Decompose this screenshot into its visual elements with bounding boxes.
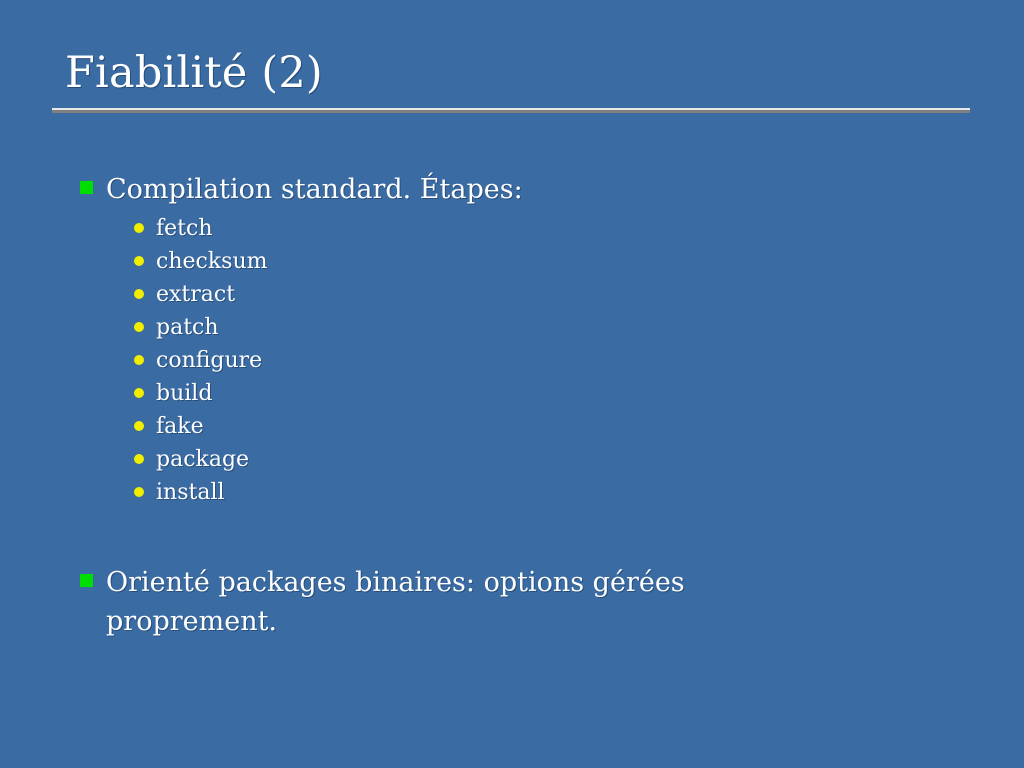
list-item-label: fake (156, 410, 980, 443)
round-bullet-icon (134, 322, 144, 332)
sub-bullet-list: fetch checksum extract patch configure (106, 212, 980, 509)
list-item-label: configure (156, 344, 980, 377)
bullet-block: Orienté packages binaires: options gérée… (80, 563, 980, 641)
list-item-label: patch (156, 311, 980, 344)
round-bullet-icon (134, 454, 144, 464)
slide: Fiabilité (2) Compilation standard. Étap… (0, 0, 1024, 768)
list-item: checksum (134, 245, 980, 278)
list-item-label: fetch (156, 212, 980, 245)
round-bullet-icon (134, 289, 144, 299)
page-title: Fiabilité (2) (52, 46, 972, 100)
bullet-text: Compilation standard. Étapes: (106, 170, 980, 209)
list-item: patch (134, 311, 980, 344)
list-item-label: package (156, 443, 980, 476)
list-item-label: build (156, 377, 980, 410)
round-bullet-icon (134, 223, 144, 233)
round-bullet-icon (134, 355, 144, 365)
list-item: fake (134, 410, 980, 443)
square-bullet-icon (80, 574, 93, 587)
list-item-label: extract (156, 278, 980, 311)
slide-content: Compilation standard. Étapes: fetch chec… (80, 170, 980, 641)
square-bullet-icon (80, 181, 93, 194)
list-item: configure (134, 344, 980, 377)
bullet-block: Compilation standard. Étapes: fetch chec… (80, 170, 980, 509)
list-item-label: install (156, 476, 980, 509)
list-item: install (134, 476, 980, 509)
list-item: package (134, 443, 980, 476)
list-item: fetch (134, 212, 980, 245)
list-item-label: checksum (156, 245, 980, 278)
round-bullet-icon (134, 388, 144, 398)
round-bullet-icon (134, 256, 144, 266)
round-bullet-icon (134, 421, 144, 431)
bullet-text: Orienté packages binaires: options gérée… (106, 563, 806, 641)
title-divider (52, 108, 970, 113)
list-item: extract (134, 278, 980, 311)
list-item: build (134, 377, 980, 410)
round-bullet-icon (134, 487, 144, 497)
title-block: Fiabilité (2) (52, 46, 972, 113)
